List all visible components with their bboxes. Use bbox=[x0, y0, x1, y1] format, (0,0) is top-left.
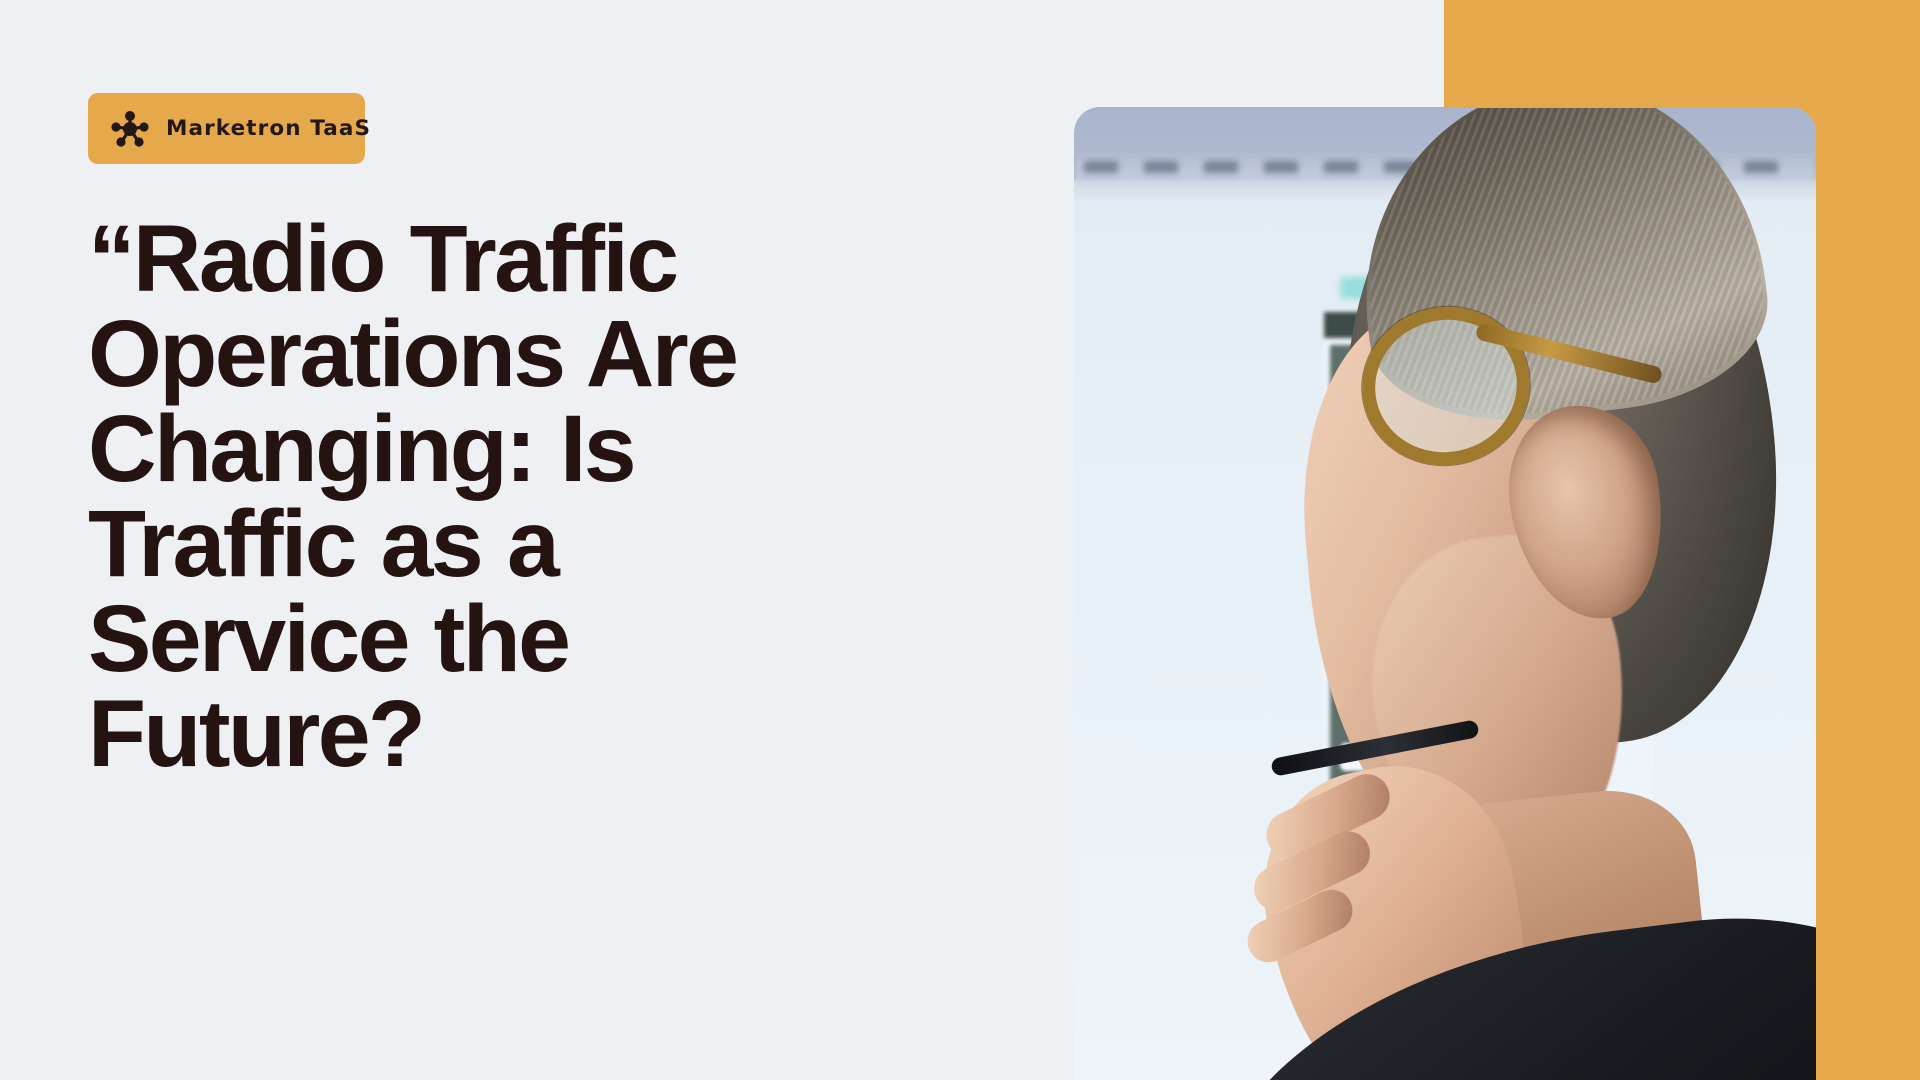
brand-logo[interactable]: Marketron TaaS bbox=[88, 93, 365, 164]
page-title: “Radio Traffic Operations Are Changing: … bbox=[88, 212, 788, 782]
hub-and-spoke-node-icon bbox=[110, 109, 150, 149]
photo-card bbox=[1074, 107, 1816, 1080]
person-photo-subject bbox=[1074, 107, 1816, 1080]
headline-line: “Radio Traffic bbox=[88, 206, 676, 312]
accent-panel-notch bbox=[1444, 0, 1920, 108]
headline-line: Operations Are bbox=[88, 301, 736, 407]
poster-canvas: Marketron TaaS “Radio Traffic Operations… bbox=[0, 0, 1920, 1080]
headline-line: Changing: Is bbox=[88, 396, 634, 502]
brand-name: Marketron TaaS bbox=[166, 118, 371, 140]
headline-line: Service the bbox=[88, 586, 568, 692]
headline-line: Traffic as a bbox=[88, 491, 557, 597]
headline-line: Future? bbox=[88, 681, 423, 787]
